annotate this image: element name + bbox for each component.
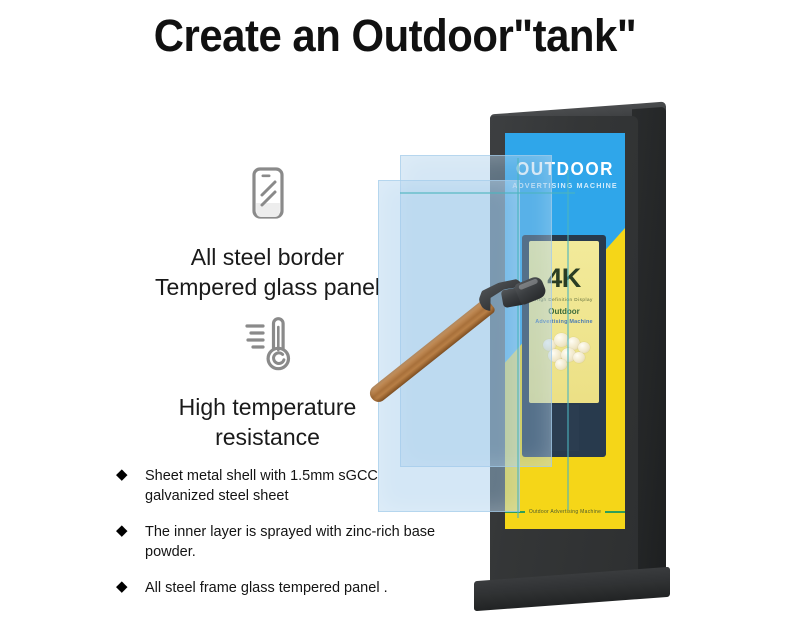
hammer-handle — [367, 297, 497, 405]
screen-footer-strip: Outdoor Advertising Machine — [505, 509, 625, 515]
inner-kiosk-stand — [549, 405, 579, 451]
screen-footer-text: Outdoor Advertising Machine — [529, 509, 601, 515]
diamond-bullet-icon: ◆ — [116, 579, 128, 596]
glass-guide-line-vertical-2 — [567, 170, 569, 510]
decor-kernel — [555, 359, 567, 370]
hammer-head — [477, 267, 551, 326]
diamond-bullet-icon: ◆ — [116, 523, 128, 540]
footer-rule-right — [605, 511, 625, 513]
hammer-illustration — [366, 272, 546, 452]
page-title: Create an Outdoor"tank" — [28, 10, 763, 62]
glass-guide-line-horizontal — [400, 192, 575, 194]
decor-kernel — [573, 352, 585, 363]
diamond-bullet-icon: ◆ — [116, 467, 128, 484]
product-banner: Create an Outdoor"tank" All steel border… — [0, 0, 790, 626]
kiosk-product-scene: OUTDOOR ADVERTISING MACHINE 4K High Defi… — [370, 100, 790, 620]
